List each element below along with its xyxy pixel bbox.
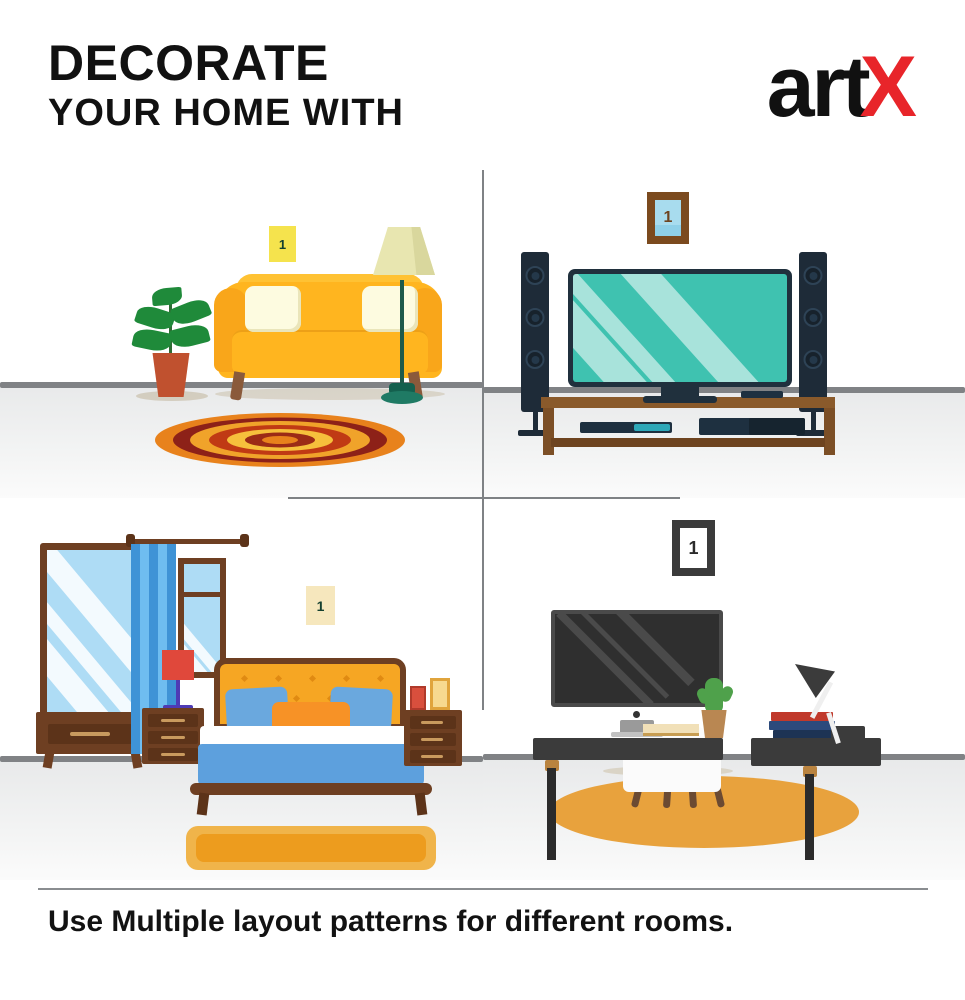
scene-tv-room: 1 — [483, 170, 965, 498]
frame-number: 1 — [279, 238, 286, 251]
soundbar-accent — [634, 424, 670, 431]
headline-line-1: DECORATE — [48, 38, 404, 88]
poster-canvas: DECORATE YOUR HOME WITH art X 1 — [0, 0, 965, 1000]
brand-logo: art X — [767, 42, 915, 134]
speaker-stand-left — [533, 412, 538, 432]
console-device-small — [741, 391, 783, 398]
nightstand-handle — [161, 736, 185, 739]
speaker-cone — [526, 308, 545, 327]
headboard-tuft — [377, 675, 384, 682]
console-shelf — [551, 438, 825, 447]
rug-ring — [262, 436, 298, 444]
horizontal-divider — [288, 497, 680, 499]
living-room-round-rug — [155, 413, 405, 467]
photo-frame-small — [410, 686, 426, 710]
wardrobe-mirror-glass — [47, 550, 133, 712]
wall-frame-living-room[interactable]: 1 — [266, 223, 299, 265]
frame-artwork: 1 — [306, 586, 335, 625]
floor-lamp-base — [381, 391, 423, 404]
nightstand-handle — [421, 755, 443, 758]
frame-artwork: 1 — [269, 226, 296, 262]
bed-duvet — [198, 744, 424, 786]
speaker-cone — [804, 350, 823, 369]
frame-mat: 1 — [655, 200, 681, 236]
wardrobe-drawer-handle — [70, 732, 110, 736]
plant-leaf — [169, 322, 211, 351]
frame-number: 1 — [317, 599, 325, 613]
tower-speaker-left — [521, 252, 549, 412]
bedroom-area-rug — [186, 826, 436, 870]
speaker-cone — [526, 350, 545, 369]
scene-living-room: 1 — [0, 170, 483, 498]
monitor-glare — [574, 610, 669, 699]
speaker-cone — [804, 266, 823, 285]
photo-frame-large — [430, 678, 450, 710]
table-lamp-shade — [162, 650, 194, 680]
curtain-rod-knob-right — [240, 534, 249, 547]
wall-frame-tv-room[interactable]: 1 — [647, 192, 689, 244]
desk-surface — [533, 738, 723, 760]
side-table-surface — [751, 738, 881, 766]
tv-stand-foot — [643, 396, 717, 403]
av-receiver — [749, 418, 805, 435]
book-blue — [769, 721, 835, 730]
desk-leg-left — [547, 768, 556, 860]
sofa-cushion-left — [245, 286, 301, 332]
tower-speaker-right — [799, 252, 827, 412]
frame-mat: 1 — [266, 223, 299, 265]
wall-frame-office[interactable]: 1 — [672, 520, 715, 576]
nightstand-handle — [421, 721, 443, 724]
frame-number: 1 — [664, 210, 673, 226]
book-red — [771, 712, 833, 721]
headboard-tuft — [343, 675, 350, 682]
bottom-separator-rule — [38, 888, 928, 890]
headboard-tuft — [241, 675, 248, 682]
headboard-tuft — [275, 675, 282, 682]
plant-leaf — [151, 287, 182, 307]
notebook — [643, 724, 699, 736]
speaker-stand-right — [811, 412, 816, 432]
frame-mat: 1 — [680, 528, 707, 568]
wall-frame-bedroom[interactable]: 1 — [303, 583, 338, 628]
scene-bedroom: 1 — [0, 498, 483, 880]
speaker-cone — [804, 308, 823, 327]
window-mullion — [184, 592, 220, 597]
frame-mat: 1 — [303, 583, 338, 628]
table-lamp-pole — [176, 680, 180, 708]
headline: DECORATE YOUR HOME WITH — [48, 38, 404, 132]
floor-lamp-pole — [400, 280, 404, 395]
monitor-indicator — [633, 711, 640, 718]
nightstand-handle — [421, 738, 443, 741]
plant-leaf — [131, 326, 172, 353]
tv-screen — [573, 274, 787, 382]
logo-x-accent: X — [860, 49, 915, 126]
headboard-tuft — [293, 695, 300, 702]
flat-screen-tv[interactable] — [568, 269, 792, 387]
vertical-divider — [482, 170, 484, 710]
bedroom-rug-inner — [196, 834, 426, 862]
speaker-cone — [526, 266, 545, 285]
scene-home-office: 1 — [483, 498, 965, 880]
sofa-cushion-right — [362, 286, 418, 332]
nightstand-handle — [161, 719, 185, 722]
sofa-seat — [232, 330, 428, 374]
bed-frame — [190, 783, 432, 795]
mirror-wardrobe[interactable] — [40, 543, 140, 719]
tv-room-baseboard — [483, 387, 965, 393]
frame-water-band — [655, 225, 681, 236]
caption-text: Use Multiple layout patterns for differe… — [48, 905, 733, 939]
desk-leg-right — [805, 774, 814, 860]
headline-line-2: YOUR HOME WITH — [48, 94, 404, 132]
frame-number: 1 — [688, 539, 698, 557]
logo-wordmark: art — [767, 49, 868, 126]
headboard-tuft — [309, 675, 316, 682]
curtain-panel — [131, 544, 140, 754]
nightstand-handle — [161, 753, 185, 756]
